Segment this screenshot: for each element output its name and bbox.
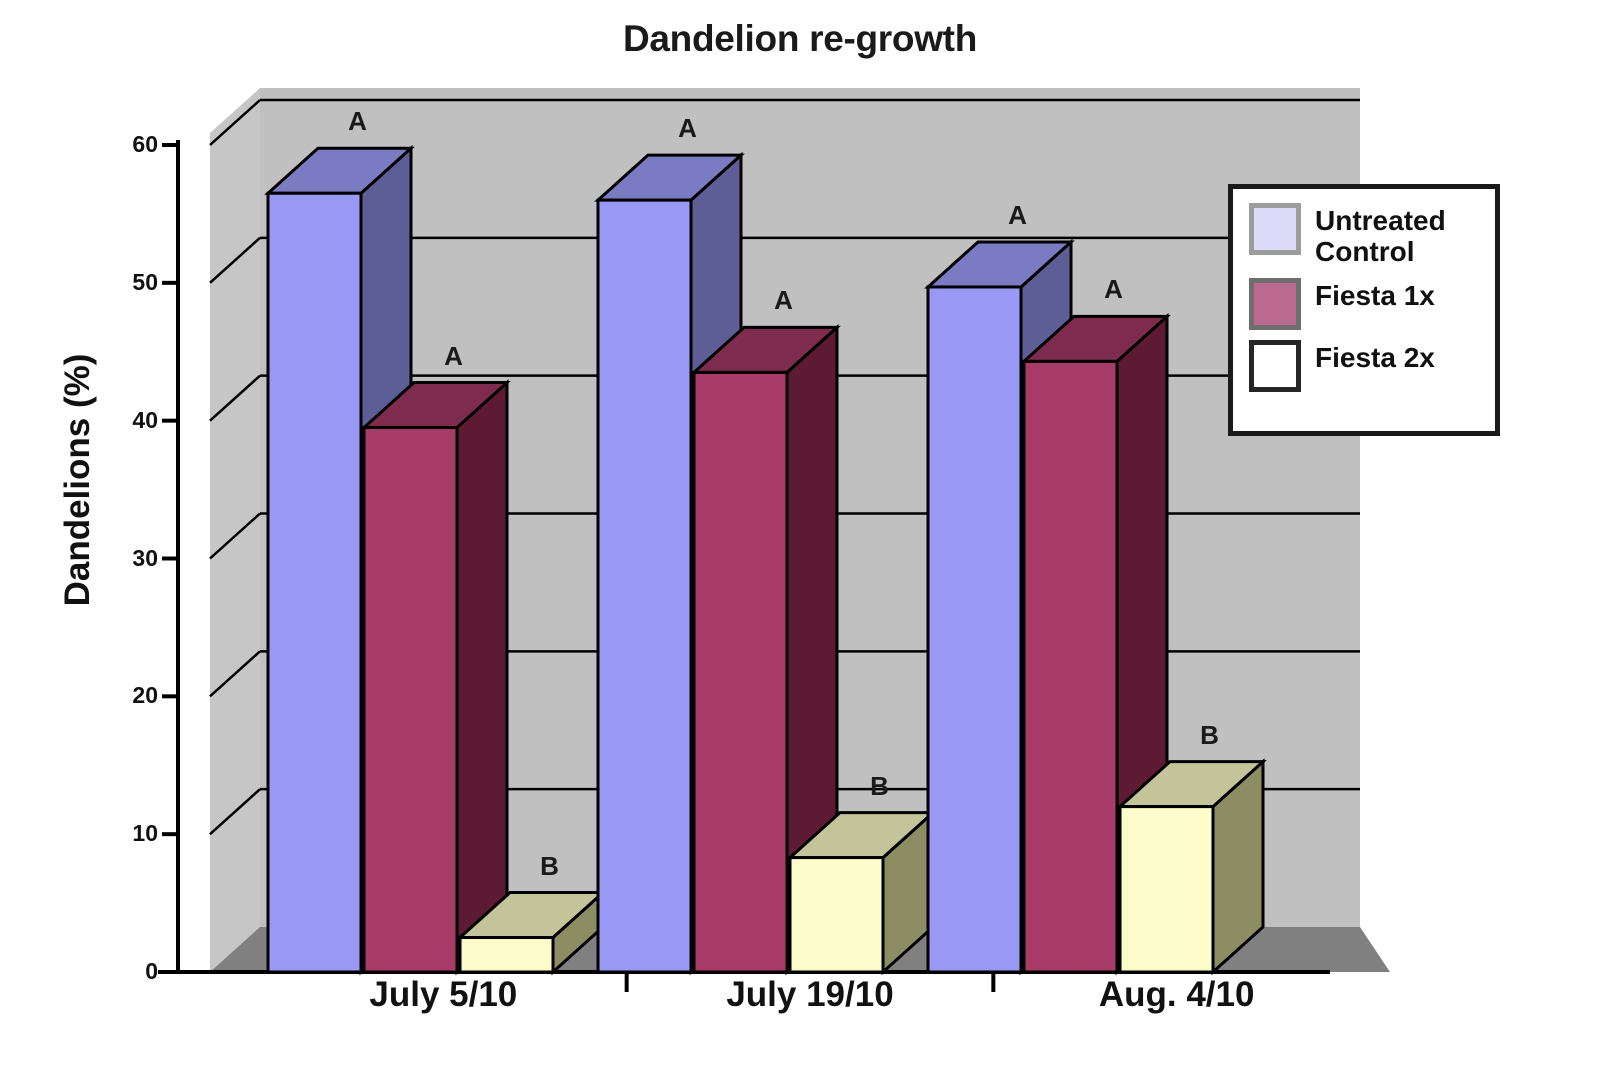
legend: Untreated Control Fiesta 1x Fiesta 2x xyxy=(1228,184,1500,436)
y-axis-tick-label: 40 xyxy=(98,407,158,434)
significance-letter: A xyxy=(1094,274,1134,305)
significance-letter: B xyxy=(1190,720,1230,751)
x-axis-category-label: Aug. 4/10 xyxy=(1017,975,1337,1015)
bar-2-1[interactable] xyxy=(364,383,507,972)
bar-3-2[interactable] xyxy=(790,813,933,972)
legend-item-fiesta-1x[interactable]: Fiesta 1x xyxy=(1249,278,1495,330)
y-axis-tick-label: 60 xyxy=(98,131,158,158)
y-axis-tick-label: 0 xyxy=(98,958,158,985)
y-axis-tick-label: 20 xyxy=(98,682,158,709)
legend-label-fiesta-1x: Fiesta 1x xyxy=(1315,278,1435,311)
bar-3-3[interactable] xyxy=(1120,762,1263,972)
y-axis-tick-label: 30 xyxy=(98,545,158,572)
legend-label-untreated-control: Untreated Control xyxy=(1315,203,1485,268)
x-axis-category-label: July 5/10 xyxy=(283,975,603,1015)
chart-canvas xyxy=(0,0,1600,1066)
y-axis-tick-label: 50 xyxy=(98,269,158,296)
legend-swatch-fiesta-2x xyxy=(1249,340,1301,392)
significance-letter: A xyxy=(764,285,804,316)
legend-label-fiesta-2x: Fiesta 2x xyxy=(1315,340,1435,373)
plot-left-wall xyxy=(210,88,260,972)
significance-letter: B xyxy=(530,851,570,882)
significance-letter: A xyxy=(434,341,474,372)
plot-area xyxy=(0,0,1600,1066)
legend-item-fiesta-2x[interactable]: Fiesta 2x xyxy=(1249,340,1495,392)
significance-letter: A xyxy=(338,106,378,137)
legend-item-untreated-control[interactable]: Untreated Control xyxy=(1249,203,1495,268)
x-axis-category-label: July 19/10 xyxy=(650,975,970,1015)
significance-letter: A xyxy=(998,200,1038,231)
significance-letter: B xyxy=(860,771,900,802)
legend-swatch-fiesta-1x xyxy=(1249,278,1301,330)
y-axis-tick-label: 10 xyxy=(98,820,158,847)
legend-swatch-untreated-control xyxy=(1249,203,1301,255)
significance-letter: A xyxy=(668,113,708,144)
